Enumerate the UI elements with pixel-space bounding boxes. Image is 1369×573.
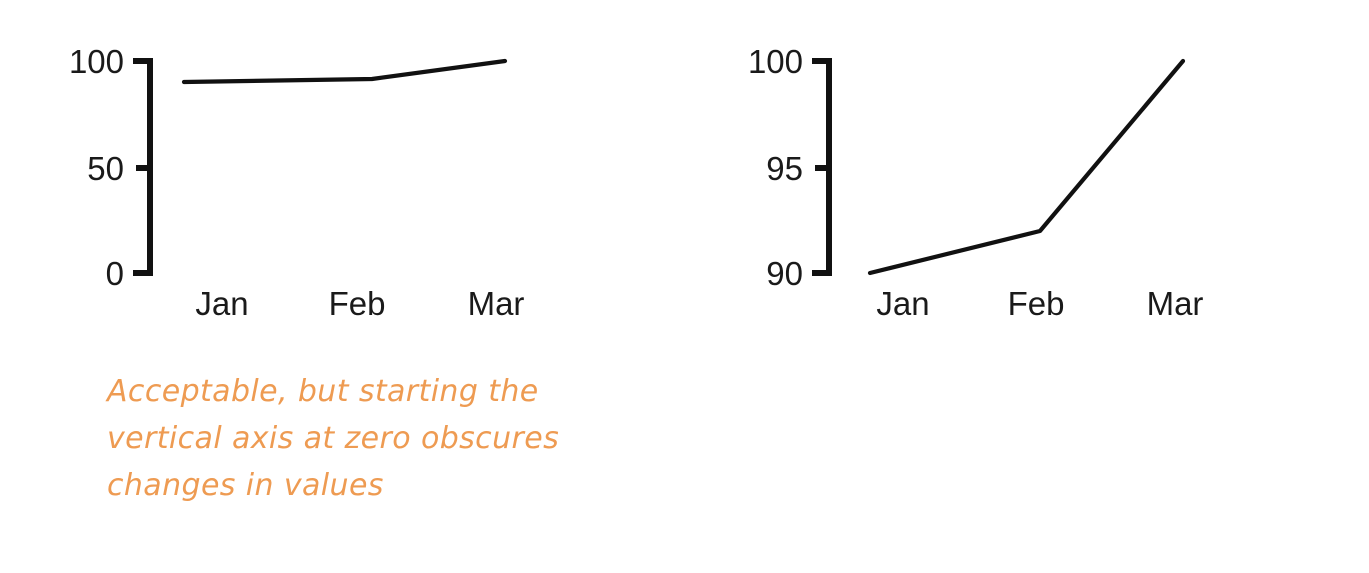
- chart-canvas-right: 100 95 90 Jan Feb Mar: [684, 0, 1368, 345]
- y-axis-right: [812, 58, 831, 276]
- x-axis-tick-labels-right: Jan Feb Mar: [876, 285, 1203, 322]
- y-axis-tick-labels-right: 100 95 90: [748, 43, 803, 292]
- x-tick-label-jan: Jan: [876, 285, 929, 322]
- chart-panel-zoomed-axis: 100 95 90 Jan Feb Mar Better: By reducin…: [684, 0, 1369, 573]
- y-tick-label-0: 0: [106, 255, 124, 292]
- x-tick-label-feb: Feb: [329, 285, 386, 322]
- y-tick-label-100: 100: [748, 43, 803, 80]
- y-tick-label-50: 50: [87, 150, 124, 187]
- x-tick-label-mar: Mar: [1147, 285, 1204, 322]
- x-axis-tick-labels-left: Jan Feb Mar: [195, 285, 524, 322]
- axis-scaling-comparison-figure: 100 50 0 Jan Feb Mar Acceptable, but sta…: [0, 0, 1369, 573]
- y-tick-label-90: 90: [766, 255, 803, 292]
- line-chart-zero-baseline: 100 50 0 Jan Feb Mar: [0, 0, 684, 345]
- x-tick-label-mar: Mar: [468, 285, 525, 322]
- line-chart-zoomed-axis: 100 95 90 Jan Feb Mar: [684, 0, 1369, 345]
- x-tick-label-feb: Feb: [1008, 285, 1065, 322]
- y-axis-tick-labels-left: 100 50 0: [69, 43, 124, 292]
- chart-canvas-left: 100 50 0 Jan Feb Mar: [0, 0, 684, 345]
- y-tick-label-95: 95: [766, 150, 803, 187]
- data-series-line: [184, 61, 505, 82]
- chart-panel-zero-baseline: 100 50 0 Jan Feb Mar Acceptable, but sta…: [0, 0, 684, 573]
- y-axis-left: [133, 58, 152, 276]
- y-tick-label-100: 100: [69, 43, 124, 80]
- x-tick-label-jan: Jan: [195, 285, 248, 322]
- caption-zero-baseline: Acceptable, but starting the vertical ax…: [107, 368, 577, 509]
- data-series-line: [870, 61, 1183, 273]
